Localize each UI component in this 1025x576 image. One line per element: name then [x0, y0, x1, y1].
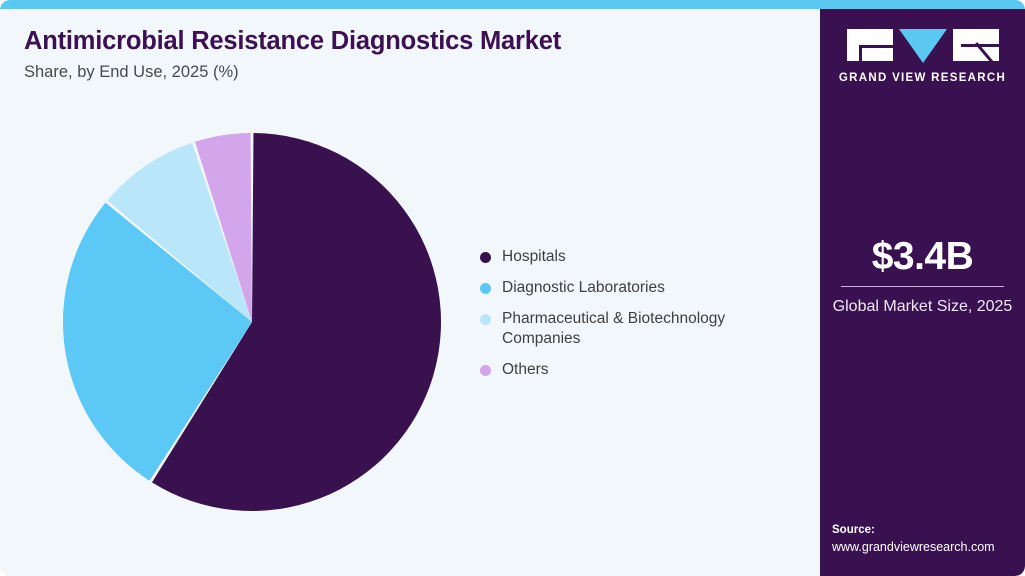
brand-name: GRAND VIEW RESEARCH — [820, 72, 1025, 84]
pie-chart — [62, 132, 442, 512]
source-label: Source: — [832, 522, 1025, 539]
brand-sidebar: GRAND VIEW RESEARCH $3.4B Global Market … — [820, 9, 1025, 576]
page-subtitle: Share, by End Use, 2025 (%) — [24, 63, 794, 83]
pie-chart-svg — [62, 132, 442, 512]
chart-legend: Hospitals Diagnostic Laboratories Pharma… — [480, 247, 800, 391]
legend-color-swatch-icon — [480, 314, 491, 325]
logo-letter-g-icon — [847, 29, 893, 61]
market-size-value: $3.4B — [832, 237, 1013, 276]
infographic-card: Antimicrobial Resistance Diagnostics Mar… — [0, 0, 1025, 576]
legend-item-diagnostic-laboratories[interactable]: Diagnostic Laboratories — [480, 278, 800, 297]
legend-item-label: Hospitals — [502, 247, 566, 266]
pie-slice-group — [63, 133, 441, 511]
page-title: Antimicrobial Resistance Diagnostics Mar… — [24, 27, 794, 56]
source-block: Source: www.grandviewresearch.com — [832, 522, 1025, 556]
logo-marks — [820, 29, 1025, 63]
legend-item-label: Diagnostic Laboratories — [502, 278, 665, 297]
legend-item-pharmaceutical-biotechnology-companies[interactable]: Pharmaceutical & Biotechnology Companies — [480, 309, 800, 347]
legend-color-swatch-icon — [480, 252, 491, 263]
legend-color-swatch-icon — [480, 283, 491, 294]
chart-region: Antimicrobial Resistance Diagnostics Mar… — [0, 9, 820, 576]
legend-item-others[interactable]: Others — [480, 360, 800, 379]
market-size-caption: Global Market Size, 2025 — [832, 297, 1013, 318]
top-accent-bar — [0, 0, 1025, 9]
legend-item-hospitals[interactable]: Hospitals — [480, 247, 800, 266]
logo-letter-r-icon — [953, 29, 999, 61]
divider — [841, 286, 1004, 287]
brand-logo: GRAND VIEW RESEARCH — [820, 29, 1025, 84]
legend-item-label: Others — [502, 360, 549, 379]
logo-letter-v-triangle-icon — [899, 29, 947, 63]
legend-item-label: Pharmaceutical & Biotechnology Companies — [502, 309, 777, 347]
source-url: www.grandviewresearch.com — [832, 539, 1025, 556]
market-size-block: $3.4B Global Market Size, 2025 — [832, 237, 1013, 318]
legend-color-swatch-icon — [480, 365, 491, 376]
title-block: Antimicrobial Resistance Diagnostics Mar… — [24, 27, 794, 83]
